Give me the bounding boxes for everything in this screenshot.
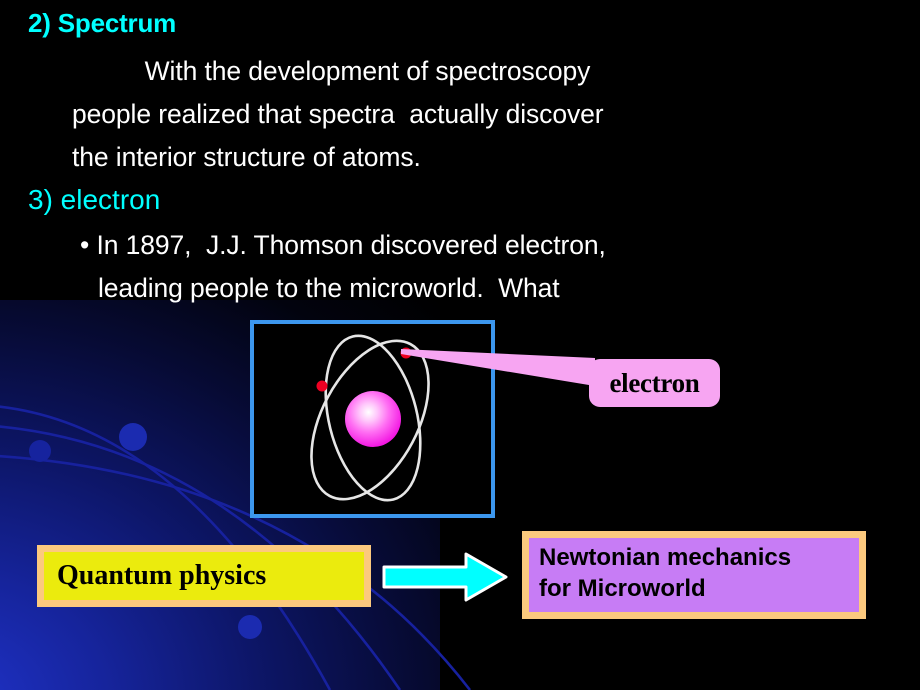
heading-spectrum: 2) Spectrum [28,10,176,36]
newtonian-line-1: Newtonian mechanics [539,543,859,574]
arc-dot-1 [29,440,51,462]
electron-callout-text: electron [609,368,699,399]
bullet-line-2: leading people to the microworld. What [98,275,560,302]
newtonian-line-2: for Microworld [539,574,859,605]
atom-diagram-frame [250,320,495,518]
quantum-physics-label: Quantum physics [44,560,266,592]
newtonian-mechanics-box: Newtonian mechanics for Microworld [522,531,866,619]
atom-icon [254,324,491,514]
paragraph-line-2: people realized that spectra actually di… [72,101,604,128]
quantum-physics-box: Quantum physics [37,545,371,607]
paragraph-line-3: the interior structure of atoms. [72,144,421,171]
flow-arrow-icon [382,550,510,606]
slide-canvas: 2) Spectrum With the development of spec… [0,0,920,690]
arc-dot-2 [119,423,147,451]
electron-dot-left [317,381,328,392]
arc-dot-3 [238,615,262,639]
bullet-line-1: • In 1897, J.J. Thomson discovered elect… [80,232,606,259]
electron-callout-label: electron [589,359,720,407]
nucleus [345,391,401,447]
electron-dot-upper [401,348,412,359]
flow-arrow-shape [384,554,506,600]
heading-electron: 3) electron [28,186,160,214]
paragraph-line-1: With the development of spectroscopy [72,58,590,85]
